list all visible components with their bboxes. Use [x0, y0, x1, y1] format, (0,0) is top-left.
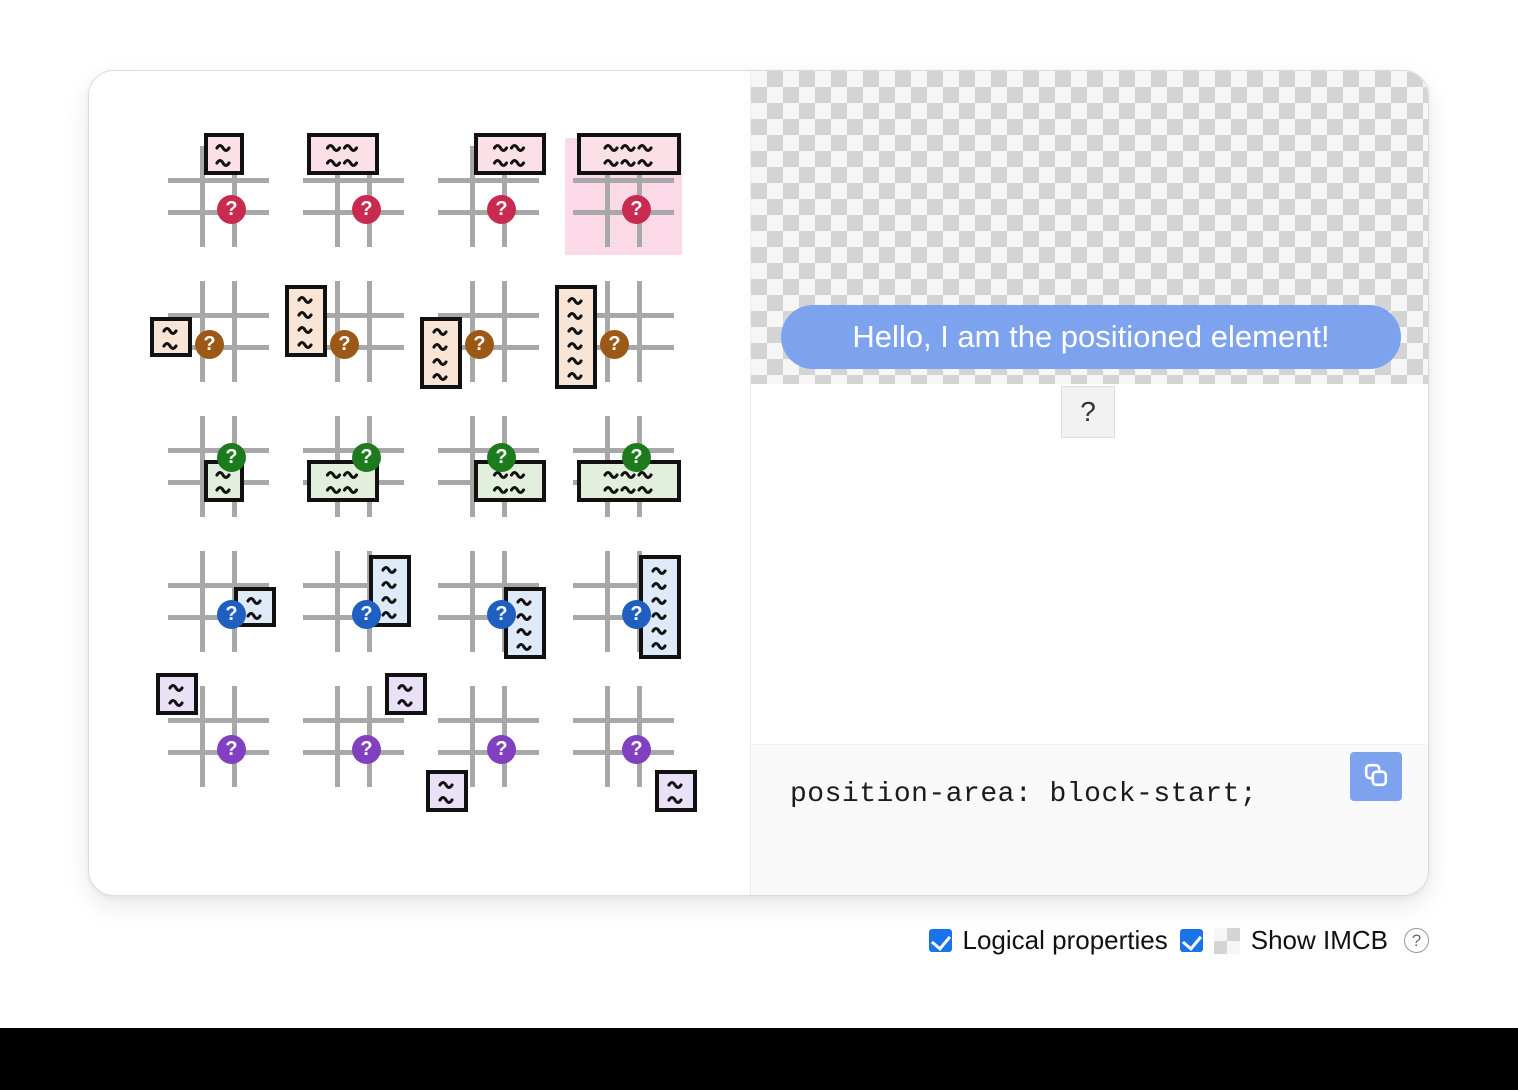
- position-area-option-inline-start-span-block-end[interactable]: ?: [421, 264, 556, 399]
- position-area-grid-panel: ????????????????????: [89, 71, 751, 895]
- anchor-marker-icon: ?: [217, 600, 246, 629]
- anchor-marker-icon: ?: [622, 600, 651, 629]
- position-area-option-block-end-span-all[interactable]: ?: [556, 399, 691, 534]
- anchor-marker-icon: ?: [487, 195, 516, 224]
- position-area-option-block-start[interactable]: ?: [286, 129, 421, 264]
- position-area-option-block-start-inline-start[interactable]: ?: [151, 669, 286, 804]
- anchor-marker-icon: ?: [465, 330, 494, 359]
- copy-icon: [1362, 761, 1390, 792]
- element-box: [420, 317, 462, 389]
- anchor-marker-icon: ?: [217, 735, 246, 764]
- position-area-option-block-start-span-inline-end[interactable]: ?: [421, 129, 556, 264]
- position-area-option-inline-end-span-block-start[interactable]: ?: [151, 534, 286, 669]
- anchor-marker-icon: ?: [217, 443, 246, 472]
- position-area-option-block-end-inline-start[interactable]: ?: [421, 669, 556, 804]
- positioned-element: Hello, I am the positioned element!: [781, 305, 1401, 369]
- element-box: [655, 770, 697, 812]
- element-box: [204, 133, 244, 175]
- position-area-option-inline-start-span-all[interactable]: ?: [556, 264, 691, 399]
- position-area-option-block-end-span-inline-end[interactable]: ?: [421, 399, 556, 534]
- position-area-option-inline-end-span-block-end[interactable]: ?: [421, 534, 556, 669]
- position-area-option-grid[interactable]: ????????????????????: [151, 129, 691, 804]
- anchor-element: ?: [1061, 386, 1115, 438]
- position-area-option-block-end[interactable]: ?: [286, 399, 421, 534]
- position-area-option-inline-end-span-all[interactable]: ?: [556, 534, 691, 669]
- element-box: [426, 770, 468, 812]
- element-box: [150, 317, 192, 357]
- element-box: [156, 673, 198, 715]
- anchor-marker-icon: ?: [622, 195, 651, 224]
- anchor-marker-icon: ?: [622, 735, 651, 764]
- screen-letterbox: [0, 1028, 1518, 1090]
- position-area-option-block-start-inline-end[interactable]: ?: [286, 669, 421, 804]
- element-box: [307, 133, 379, 175]
- anchor-marker-icon: ?: [487, 443, 516, 472]
- show-imcb-checkbox[interactable]: [1180, 929, 1203, 952]
- checkerboard-swatch-icon: [1214, 928, 1240, 954]
- position-area-picker-card: ???????????????????? Hello, I am the pos…: [88, 70, 1429, 896]
- anchor-marker-icon: ?: [352, 735, 381, 764]
- code-text: position-area: block-start;: [790, 779, 1257, 810]
- footer-controls: Logical properties Show IMCB ?: [88, 925, 1429, 956]
- position-area-option-block-start-span-inline-start[interactable]: ?: [151, 129, 286, 264]
- element-box: [285, 285, 327, 357]
- logical-properties-checkbox[interactable]: [929, 929, 952, 952]
- position-area-option-inline-end[interactable]: ?: [286, 534, 421, 669]
- anchor-marker-icon: ?: [600, 330, 629, 359]
- position-area-option-inline-start-span-block-start[interactable]: ?: [151, 264, 286, 399]
- preview-panel: Hello, I am the positioned element! ? po…: [751, 71, 1428, 895]
- anchor-marker-icon: ?: [487, 735, 516, 764]
- position-area-option-block-start-span-all[interactable]: ?: [556, 129, 691, 264]
- position-area-option-inline-start[interactable]: ?: [286, 264, 421, 399]
- anchor-marker-icon: ?: [330, 330, 359, 359]
- anchor-marker-icon: ?: [622, 443, 651, 472]
- element-box: [555, 285, 597, 389]
- logical-properties-control[interactable]: Logical properties: [929, 925, 1168, 956]
- help-icon[interactable]: ?: [1404, 928, 1429, 953]
- anchor-marker-icon: ?: [352, 600, 381, 629]
- anchor-marker-icon: ?: [217, 195, 246, 224]
- anchor-marker-icon: ?: [352, 443, 381, 472]
- element-box: [474, 133, 546, 175]
- position-area-option-block-end-inline-end[interactable]: ?: [556, 669, 691, 804]
- position-area-option-block-end-span-inline-start[interactable]: ?: [151, 399, 286, 534]
- anchor-marker-icon: ?: [352, 195, 381, 224]
- code-output-block: position-area: block-start;: [751, 744, 1429, 895]
- logical-properties-label: Logical properties: [963, 925, 1168, 956]
- copy-code-button[interactable]: [1350, 752, 1402, 801]
- show-imcb-control[interactable]: Show IMCB: [1180, 925, 1388, 956]
- anchor-marker-icon: ?: [195, 330, 224, 359]
- element-box: [577, 133, 681, 175]
- show-imcb-label: Show IMCB: [1251, 925, 1388, 956]
- anchor-marker-icon: ?: [487, 600, 516, 629]
